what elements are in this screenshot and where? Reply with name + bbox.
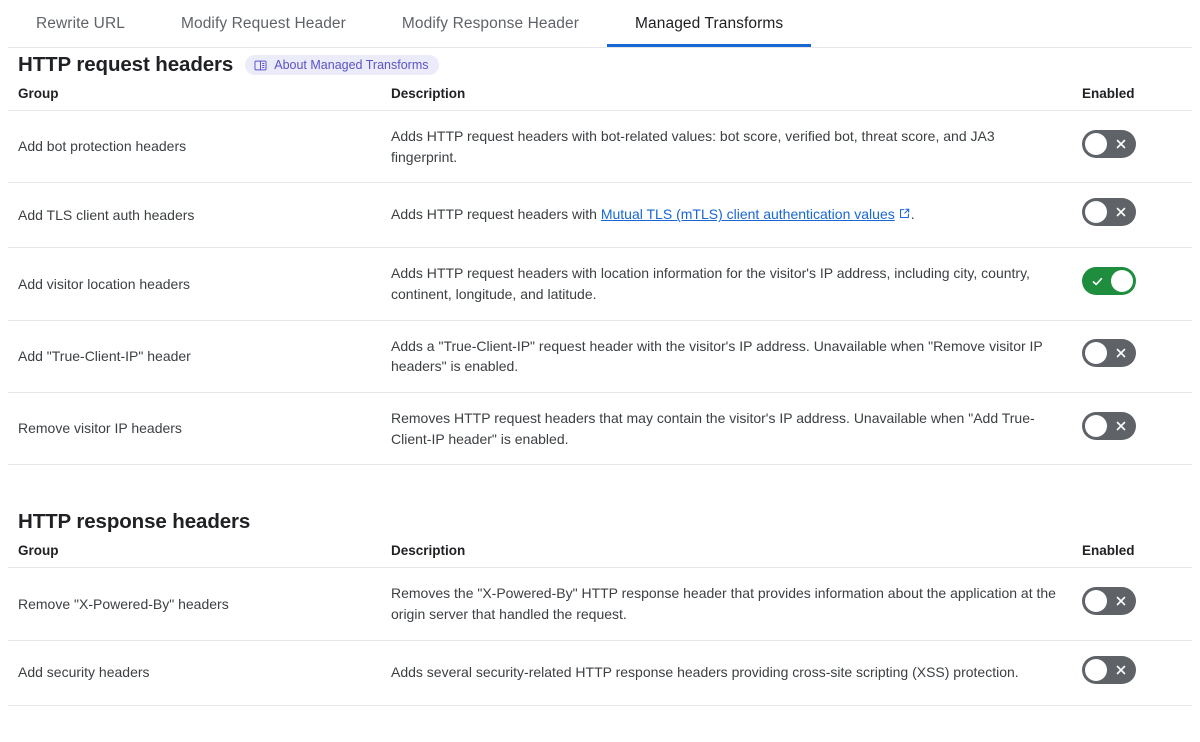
enabled-toggle[interactable] — [1082, 130, 1136, 158]
row-description-text: Removes the "X-Powered-By" HTTP response… — [391, 583, 1062, 624]
table-row: Add bot protection headers Adds HTTP req… — [8, 111, 1192, 183]
toggle-knob — [1085, 590, 1107, 612]
table-body: Add bot protection headers Adds HTTP req… — [8, 111, 1192, 465]
enabled-toggle[interactable] — [1082, 267, 1136, 295]
tab-label: Modify Response Header — [402, 15, 579, 33]
toggle-knob — [1085, 133, 1107, 155]
row-group-name: Add "True-Client-IP" header — [8, 320, 381, 392]
toggle-knob — [1111, 270, 1133, 292]
response-headers-table: Group Description Enabled Remove "X-Powe… — [8, 539, 1192, 705]
row-description: Adds a "True-Client-IP" request header w… — [381, 320, 1072, 392]
row-enabled-cell — [1072, 640, 1192, 705]
column-header-description: Description — [381, 82, 1072, 111]
table-row: Remove visitor IP headers Removes HTTP r… — [8, 393, 1192, 465]
table-row: Add TLS client auth headers Adds HTTP re… — [8, 183, 1192, 248]
column-header-group: Group — [8, 82, 381, 111]
table-row: Remove "X-Powered-By" headers Removes th… — [8, 568, 1192, 640]
response-section-title: HTTP response headers — [18, 510, 250, 534]
tab-bar: Rewrite URL Modify Request Header Modify… — [0, 0, 1200, 48]
close-icon — [1108, 656, 1134, 684]
row-enabled-cell — [1072, 320, 1192, 392]
response-section-header: HTTP response headers — [8, 505, 1192, 539]
tab-managed-transforms[interactable]: Managed Transforms — [607, 0, 811, 47]
table-head: Group Description Enabled — [8, 539, 1192, 568]
row-description: Adds HTTP request headers with Mutual TL… — [381, 183, 1072, 248]
column-header-description: Description — [381, 539, 1072, 568]
column-header-enabled: Enabled — [1072, 539, 1192, 568]
enabled-toggle[interactable] — [1082, 587, 1136, 615]
http-response-headers-section: HTTP response headers Group Description … — [0, 505, 1200, 705]
row-enabled-cell — [1072, 568, 1192, 640]
tab-modify-request-header[interactable]: Modify Request Header — [153, 0, 374, 47]
row-description: Removes the "X-Powered-By" HTTP response… — [381, 568, 1072, 640]
about-managed-transforms-badge[interactable]: About Managed Transforms — [245, 55, 439, 75]
toggle-knob — [1085, 415, 1107, 437]
tab-label: Rewrite URL — [36, 15, 125, 33]
row-description-text: Adds a "True-Client-IP" request header w… — [391, 336, 1062, 377]
section-spacer — [0, 465, 1200, 505]
row-description-text: Adds several security-related HTTP respo… — [391, 662, 1062, 683]
request-section-title: HTTP request headers — [18, 53, 233, 77]
request-headers-table: Group Description Enabled Add bot protec… — [8, 82, 1192, 465]
row-group-name: Add visitor location headers — [8, 248, 381, 320]
badge-label: About Managed Transforms — [274, 58, 428, 72]
toggle-knob — [1085, 201, 1107, 223]
row-group-name: Add bot protection headers — [8, 111, 381, 183]
row-group-name: Add security headers — [8, 640, 381, 705]
close-icon — [1108, 198, 1134, 226]
check-icon — [1084, 267, 1110, 295]
row-description: Removes HTTP request headers that may co… — [381, 393, 1072, 465]
enabled-toggle[interactable] — [1082, 339, 1136, 367]
row-enabled-cell — [1072, 248, 1192, 320]
table-header-row: Group Description Enabled — [8, 539, 1192, 568]
enabled-toggle[interactable] — [1082, 198, 1136, 226]
row-description: Adds HTTP request headers with location … — [381, 248, 1072, 320]
book-icon — [254, 59, 267, 72]
mutual-tls-link[interactable]: Mutual TLS (mTLS) client authentication … — [601, 206, 895, 222]
close-icon — [1108, 130, 1134, 158]
table-row: Add visitor location headers Adds HTTP r… — [8, 248, 1192, 320]
table-body: Remove "X-Powered-By" headers Removes th… — [8, 568, 1192, 705]
table-row: Add security headers Adds several securi… — [8, 640, 1192, 705]
row-group-name: Add TLS client auth headers — [8, 183, 381, 248]
tab-label: Modify Request Header — [181, 15, 346, 33]
description-prefix: Adds HTTP request headers with — [391, 206, 601, 222]
close-icon — [1108, 412, 1134, 440]
tab-modify-response-header[interactable]: Modify Response Header — [374, 0, 607, 47]
toggle-knob — [1085, 659, 1107, 681]
row-description-text: Removes HTTP request headers that may co… — [391, 408, 1062, 449]
row-group-name: Remove "X-Powered-By" headers — [8, 568, 381, 640]
row-description-text: Adds HTTP request headers with location … — [391, 263, 1062, 304]
row-description: Adds HTTP request headers with bot-relat… — [381, 111, 1072, 183]
table-row: Add "True-Client-IP" header Adds a "True… — [8, 320, 1192, 392]
row-description-text: Adds HTTP request headers with bot-relat… — [391, 126, 1062, 167]
tab-label: Managed Transforms — [635, 15, 783, 33]
row-enabled-cell — [1072, 183, 1192, 248]
row-enabled-cell — [1072, 111, 1192, 183]
table-head: Group Description Enabled — [8, 82, 1192, 111]
request-section-header: HTTP request headers About Managed Trans… — [8, 48, 1192, 82]
http-request-headers-section: HTTP request headers About Managed Trans… — [0, 48, 1200, 465]
enabled-toggle[interactable] — [1082, 656, 1136, 684]
table-header-row: Group Description Enabled — [8, 82, 1192, 111]
row-group-name: Remove visitor IP headers — [8, 393, 381, 465]
close-icon — [1108, 339, 1134, 367]
row-enabled-cell — [1072, 393, 1192, 465]
row-description: Adds several security-related HTTP respo… — [381, 640, 1072, 705]
external-link-icon[interactable] — [898, 205, 911, 226]
enabled-toggle[interactable] — [1082, 412, 1136, 440]
column-header-group: Group — [8, 539, 381, 568]
toggle-knob — [1085, 342, 1107, 364]
row-description-text: Adds HTTP request headers with Mutual TL… — [391, 204, 1062, 226]
close-icon — [1108, 587, 1134, 615]
tab-rewrite-url[interactable]: Rewrite URL — [8, 0, 153, 47]
description-suffix: . — [911, 206, 915, 222]
column-header-enabled: Enabled — [1072, 82, 1192, 111]
